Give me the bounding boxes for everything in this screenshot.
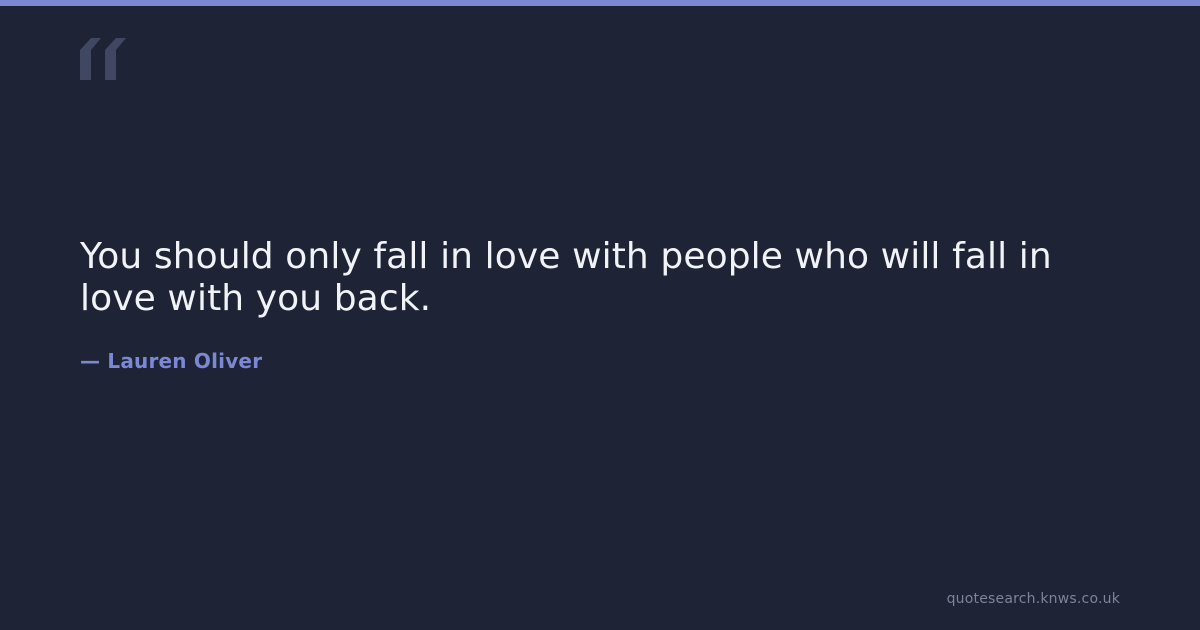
top-accent-bar [0, 0, 1200, 6]
quote-card: You should only fall in love with people… [0, 0, 1200, 630]
quote-text: You should only fall in love with people… [80, 236, 1090, 320]
attribution-author: Lauren Oliver [107, 349, 262, 373]
footer-watermark: quotesearch.knws.co.uk [947, 590, 1120, 608]
quote-content: You should only fall in love with people… [80, 236, 1120, 373]
quote-attribution: — Lauren Oliver [80, 320, 1120, 373]
open-quote-icon [80, 38, 140, 84]
attribution-dash: — [80, 349, 100, 373]
